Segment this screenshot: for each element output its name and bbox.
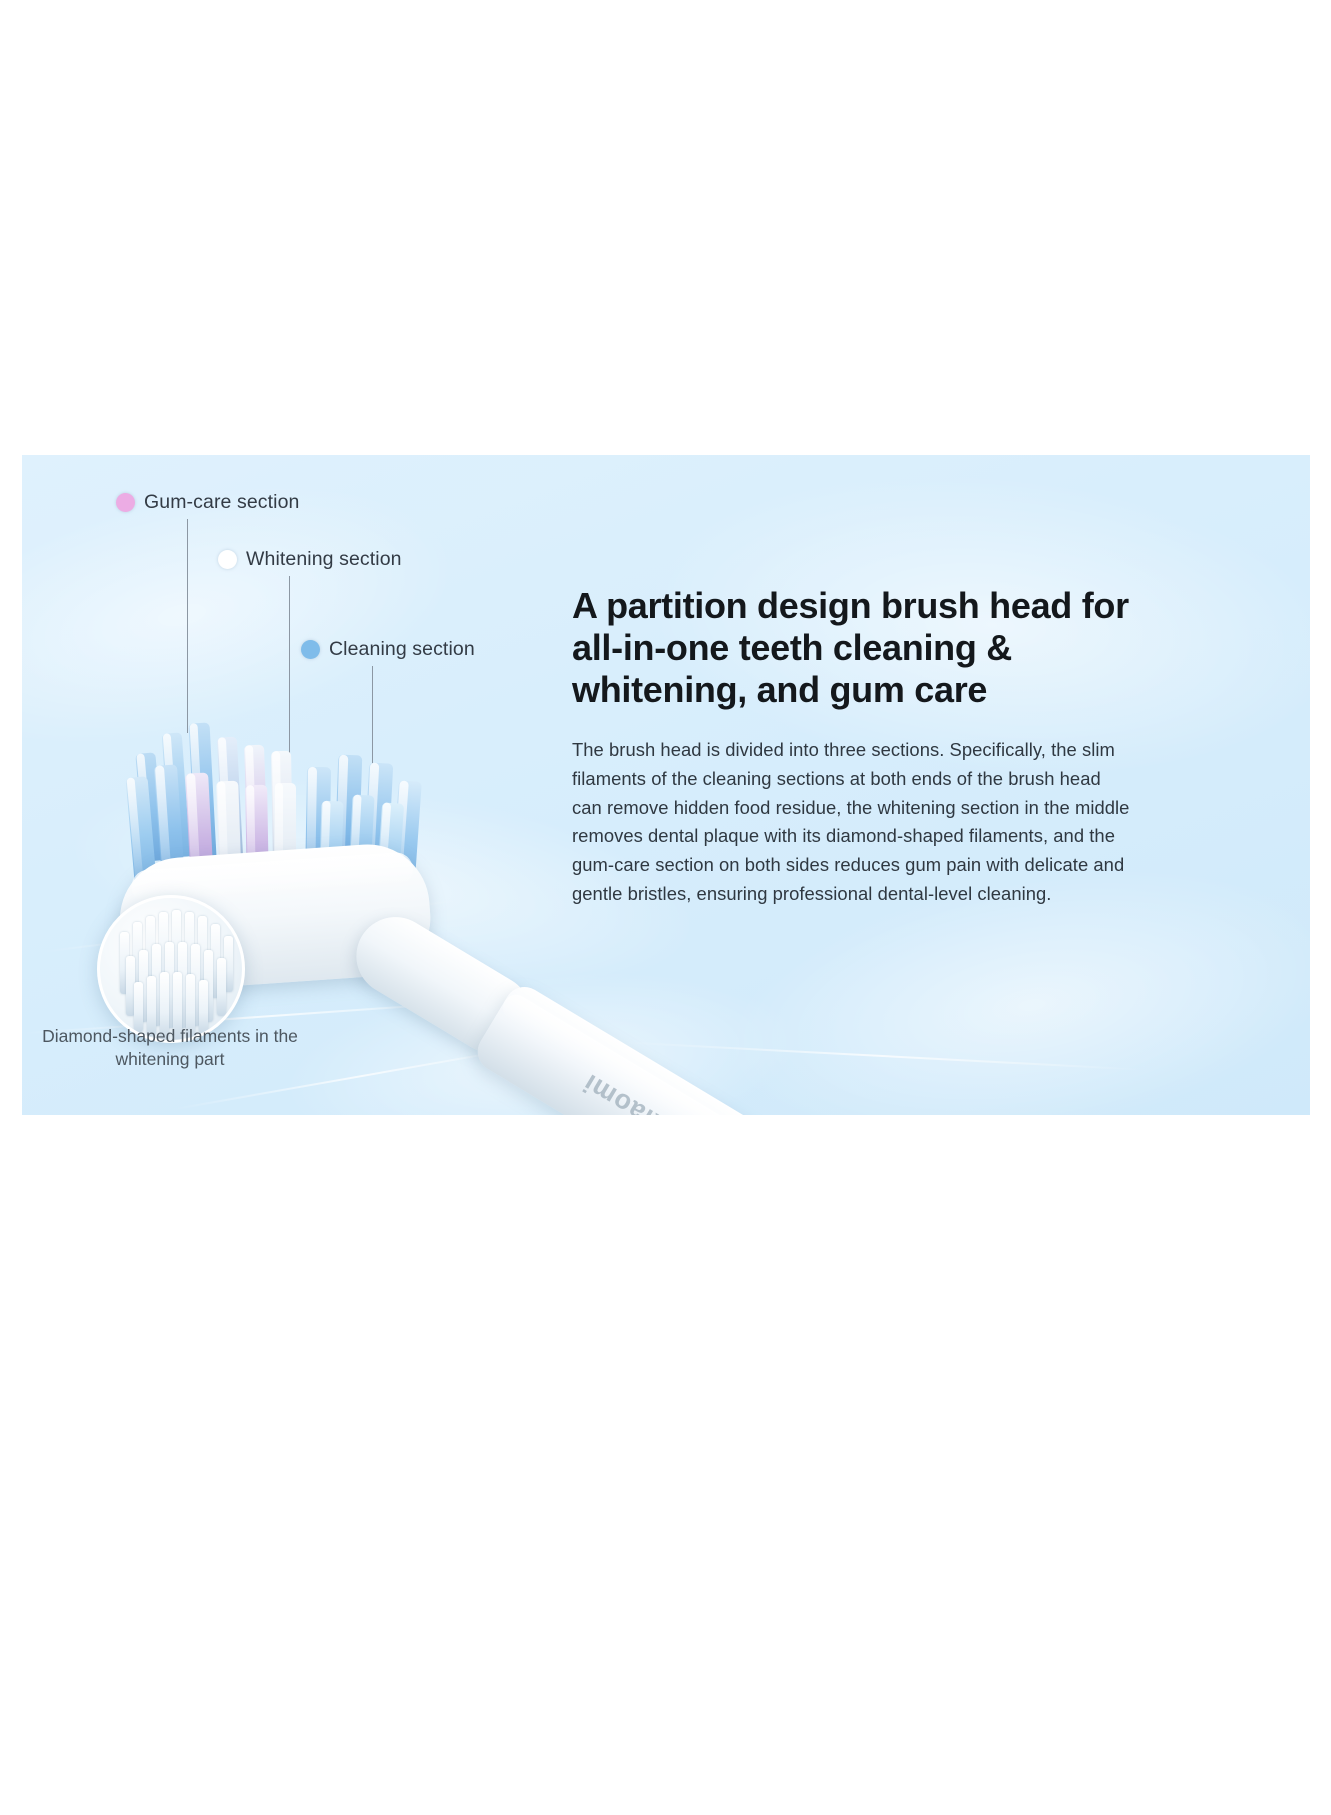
marketing-copy-column: A partition design brush head for all-in…: [572, 585, 1134, 908]
legend-item-whitening: Whitening section: [218, 548, 402, 571]
handle-gloss-highlight: [498, 990, 794, 1115]
magnifier-detail-circle: [97, 895, 245, 1043]
brush-handle: Xiaomi: [470, 980, 800, 1115]
legend-label-whitening: Whitening section: [246, 548, 402, 571]
product-feature-panel: Gum-care section Whitening section Clean…: [22, 455, 1310, 1115]
legend-dot-whitening-icon: [218, 550, 237, 569]
body-paragraph: The brush head is divided into three sec…: [572, 736, 1134, 908]
magnifier-caption: Diamond-shaped filaments in the whitenin…: [22, 1025, 318, 1071]
magnified-filament: [217, 958, 226, 1016]
page-root: Gum-care section Whitening section Clean…: [0, 0, 1331, 1815]
headline-text: A partition design brush head for all-in…: [572, 585, 1134, 710]
legend-item-gum-care: Gum-care section: [116, 491, 300, 514]
legend-dot-gum-care-icon: [116, 493, 135, 512]
legend-label-gum-care: Gum-care section: [144, 491, 300, 514]
